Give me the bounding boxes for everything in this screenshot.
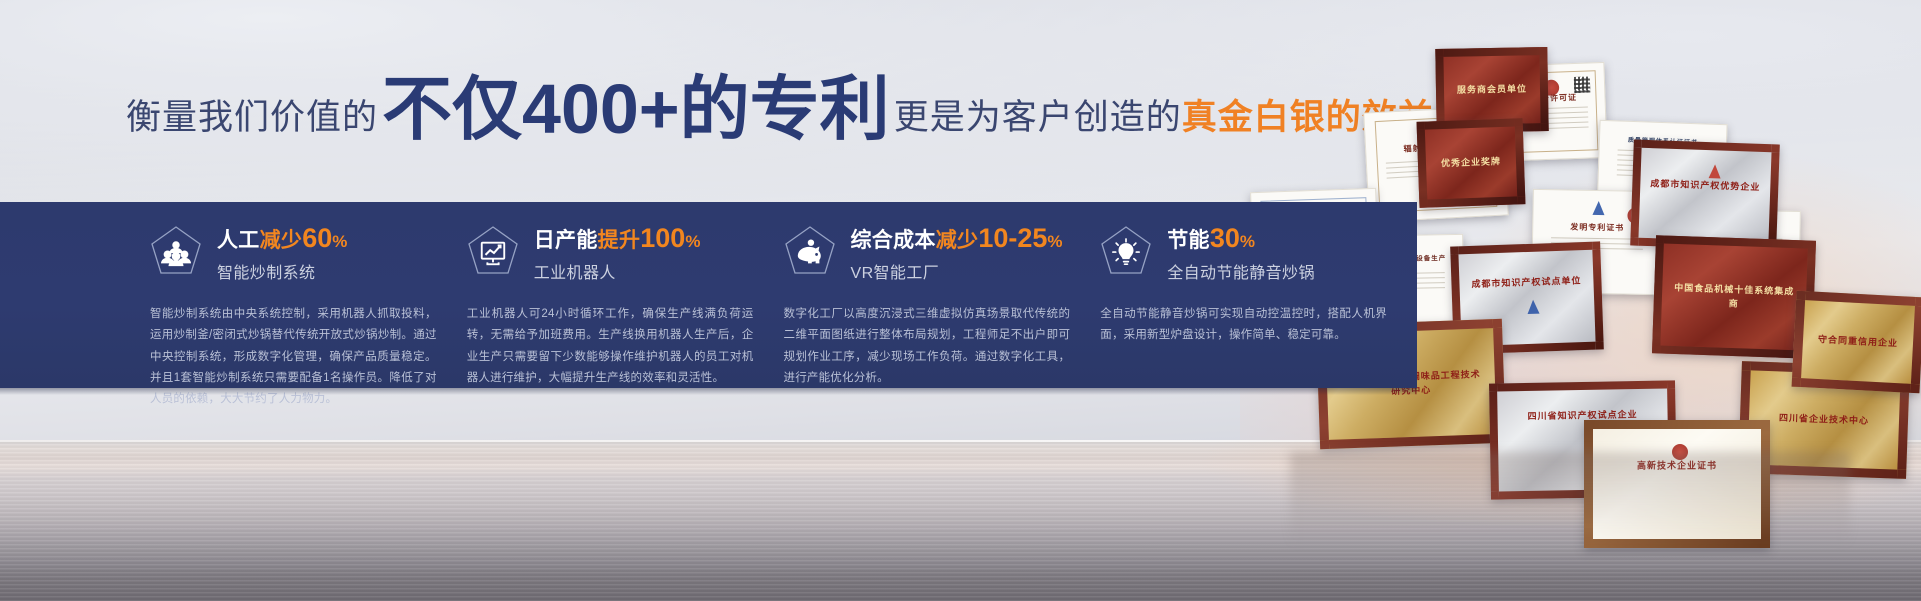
piggy-bank-icon xyxy=(784,225,836,281)
headline-emphasis: 不仅400+的专利 xyxy=(382,76,890,143)
feature-header: 日产能提升100% 工业机器人 xyxy=(467,202,754,290)
feature-subtitle: VR智能工厂 xyxy=(851,259,1063,283)
people-group-icon xyxy=(150,225,202,281)
feature-panel: 人工减少60% 智能炒制系统 智能炒制系统由中央系统控制，采用机器人抓取投料，运… xyxy=(0,202,1417,388)
feature-titles: 综合成本减少10-25% VR智能工厂 xyxy=(851,223,1063,283)
certificate-title: 服务商会员单位 xyxy=(1450,83,1535,98)
headline-middle: 更是为客户创造的 xyxy=(894,89,1182,140)
feature-title-number: 100 xyxy=(640,223,685,253)
certificate-item: 成都市知识产权优势企业 xyxy=(1630,139,1780,250)
certificate-title: 成都市知识产权优势企业 xyxy=(1648,177,1763,194)
feature-title-prefix: 日产能 xyxy=(534,229,598,252)
feature-title: 综合成本减少10-25% xyxy=(851,223,1063,254)
feature-list: 人工减少60% 智能炒制系统 智能炒制系统由中央系统控制，采用机器人抓取投料，运… xyxy=(0,202,1417,388)
feature-item: 节能30% 全自动节能静音炒锅 全自动节能静音炒锅可实现自动控温控时，搭配人机界… xyxy=(1100,202,1417,388)
certificate-title: 优秀企业奖牌 xyxy=(1431,155,1511,171)
feature-title-prefix: 节能 xyxy=(1167,229,1210,252)
feature-header: 节能30% 全自动节能静音炒锅 xyxy=(1100,202,1387,290)
certificate-title: 成都市知识产权试点单位 xyxy=(1467,274,1585,292)
feature-title-unit: % xyxy=(332,232,347,251)
feature-subtitle: 智能炒制系统 xyxy=(217,259,348,283)
feature-title: 节能30% xyxy=(1167,223,1315,254)
feature-title-accent: 提升 xyxy=(598,229,641,252)
certificate-item: 守合同重信用企业 xyxy=(1792,291,1921,394)
feature-item: 人工减少60% 智能炒制系统 智能炒制系统由中央系统控制，采用机器人抓取投料，运… xyxy=(150,202,467,388)
feature-item: 综合成本减少10-25% VR智能工厂 数字化工厂以高度沉浸式三维虚拟仿真场景取… xyxy=(784,202,1101,388)
feature-title-accent: 减少 xyxy=(936,229,979,252)
feature-panel-shadow xyxy=(0,388,1417,395)
certificate-title: 中国食品机械十佳系统集成商 xyxy=(1670,281,1798,312)
feature-title-accent: 减少 xyxy=(260,229,303,252)
certificate-item: 中国食品机械十佳系统集成商 xyxy=(1652,235,1816,359)
feature-title-unit: % xyxy=(1047,232,1062,251)
feature-title: 人工减少60% xyxy=(217,223,348,254)
certificate-reflection xyxy=(1290,452,1850,547)
feature-title-prefix: 人工 xyxy=(217,229,260,252)
feature-title-number: 30 xyxy=(1210,223,1240,253)
feature-title-number: 10-25 xyxy=(978,223,1047,253)
promo-banner: 衡量我们价值的 不仅400+的专利 更是为客户创造的 真金白银的效益 食品生产许… xyxy=(0,0,1921,601)
feature-body: 数字化工厂以高度沉浸式三维虚拟仿真场景取代传统的二维平面图纸进行整体布局规划，工… xyxy=(784,304,1071,389)
feature-header: 综合成本减少10-25% VR智能工厂 xyxy=(784,202,1071,290)
feature-body: 全自动节能静音炒锅可实现自动控温控时，搭配人机界面，采用新型炉盘设计，操作简单、… xyxy=(1100,304,1387,347)
headline-lead: 衡量我们价值的 xyxy=(126,89,378,140)
feature-titles: 节能30% 全自动节能静音炒锅 xyxy=(1167,223,1315,283)
feature-item: 日产能提升100% 工业机器人 工业机器人可24小时循环工作，确保生产线满负荷运… xyxy=(467,202,784,388)
feature-subtitle: 工业机器人 xyxy=(534,259,701,283)
feature-title-unit: % xyxy=(685,232,700,251)
feature-subtitle: 全自动节能静音炒锅 xyxy=(1167,259,1315,283)
feature-titles: 人工减少60% 智能炒制系统 xyxy=(217,223,348,283)
feature-title-number: 60 xyxy=(302,223,332,253)
certificate-title: 四川省企业技术中心 xyxy=(1758,411,1890,429)
feature-title: 日产能提升100% xyxy=(534,223,701,254)
certificate-item: 优秀企业奖牌 xyxy=(1417,118,1526,208)
feature-body: 工业机器人可24小时循环工作，确保生产线满负荷运转，无需给予加班费用。生产线换用… xyxy=(467,304,754,389)
feature-title-prefix: 综合成本 xyxy=(851,229,936,252)
feature-titles: 日产能提升100% 工业机器人 xyxy=(534,223,701,283)
chart-board-icon xyxy=(467,225,519,281)
feature-title-unit: % xyxy=(1240,232,1255,251)
feature-header: 人工减少60% 智能炒制系统 xyxy=(150,202,437,290)
lightbulb-icon xyxy=(1100,225,1152,281)
certificate-title: 守合同重信用企业 xyxy=(1809,333,1906,352)
